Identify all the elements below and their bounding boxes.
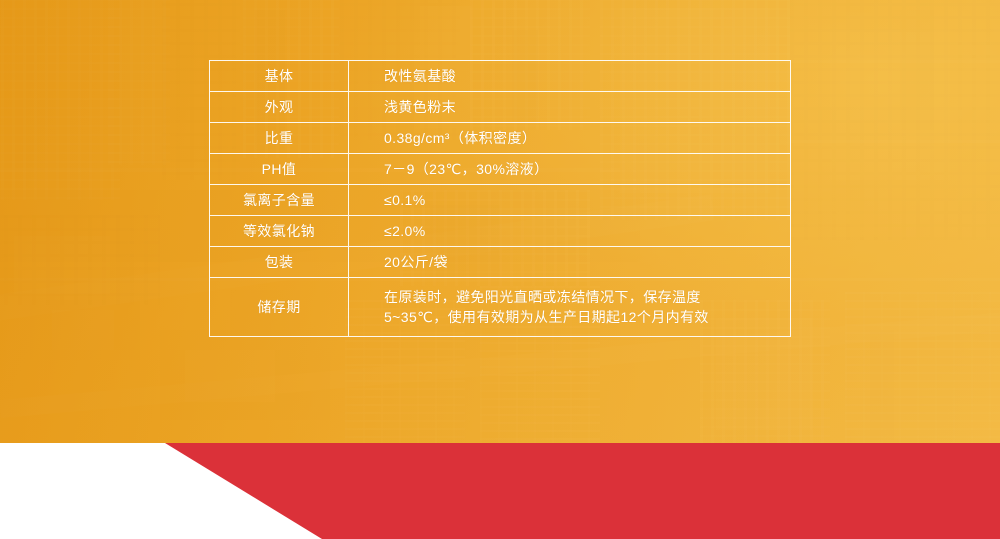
spec-label: 等效氯化钠 <box>210 216 349 246</box>
hero-background: 基体 改性氨基酸 外观 浅黄色粉末 比重 0.38g/cm³（体积密度） PH值… <box>0 0 1000 443</box>
table-row: 包装 20公斤/袋 <box>210 247 790 278</box>
bottom-banner <box>0 443 1000 539</box>
spec-label: 基体 <box>210 61 349 91</box>
table-row: PH值 7－9（23℃，30%溶液） <box>210 154 790 185</box>
spec-value: ≤0.1% <box>349 185 790 215</box>
spec-value-line-2: 5~35℃，使用有效期为从生产日期起12个月内有效 <box>384 307 709 327</box>
table-row: 储存期 在原装时，避免阳光直晒或冻结情况下，保存温度 5~35℃，使用有效期为从… <box>210 278 790 336</box>
spec-label: 氯离子含量 <box>210 185 349 215</box>
table-row: 氯离子含量 ≤0.1% <box>210 185 790 216</box>
product-spec-banner: 基体 改性氨基酸 外观 浅黄色粉末 比重 0.38g/cm³（体积密度） PH值… <box>0 0 1000 539</box>
spec-value: 20公斤/袋 <box>349 247 790 277</box>
spec-label: 储存期 <box>210 278 349 336</box>
spec-value-line-1: 在原装时，避免阳光直晒或冻结情况下，保存温度 <box>384 287 701 307</box>
spec-label: PH值 <box>210 154 349 184</box>
spec-value: 7－9（23℃，30%溶液） <box>349 154 790 184</box>
spec-label: 包装 <box>210 247 349 277</box>
table-row: 外观 浅黄色粉末 <box>210 92 790 123</box>
table-row: 等效氯化钠 ≤2.0% <box>210 216 790 247</box>
spec-value: 0.38g/cm³（体积密度） <box>349 123 790 153</box>
product-specification-table: 基体 改性氨基酸 外观 浅黄色粉末 比重 0.38g/cm³（体积密度） PH值… <box>209 60 791 337</box>
spec-label: 比重 <box>210 123 349 153</box>
spec-value: 在原装时，避免阳光直晒或冻结情况下，保存温度 5~35℃，使用有效期为从生产日期… <box>349 278 790 336</box>
spec-value: 浅黄色粉末 <box>349 92 790 122</box>
table-row: 比重 0.38g/cm³（体积密度） <box>210 123 790 154</box>
spec-label: 外观 <box>210 92 349 122</box>
spec-value: ≤2.0% <box>349 216 790 246</box>
table-row: 基体 改性氨基酸 <box>210 61 790 92</box>
red-diagonal-shape <box>0 443 1000 539</box>
spec-value: 改性氨基酸 <box>349 61 790 91</box>
